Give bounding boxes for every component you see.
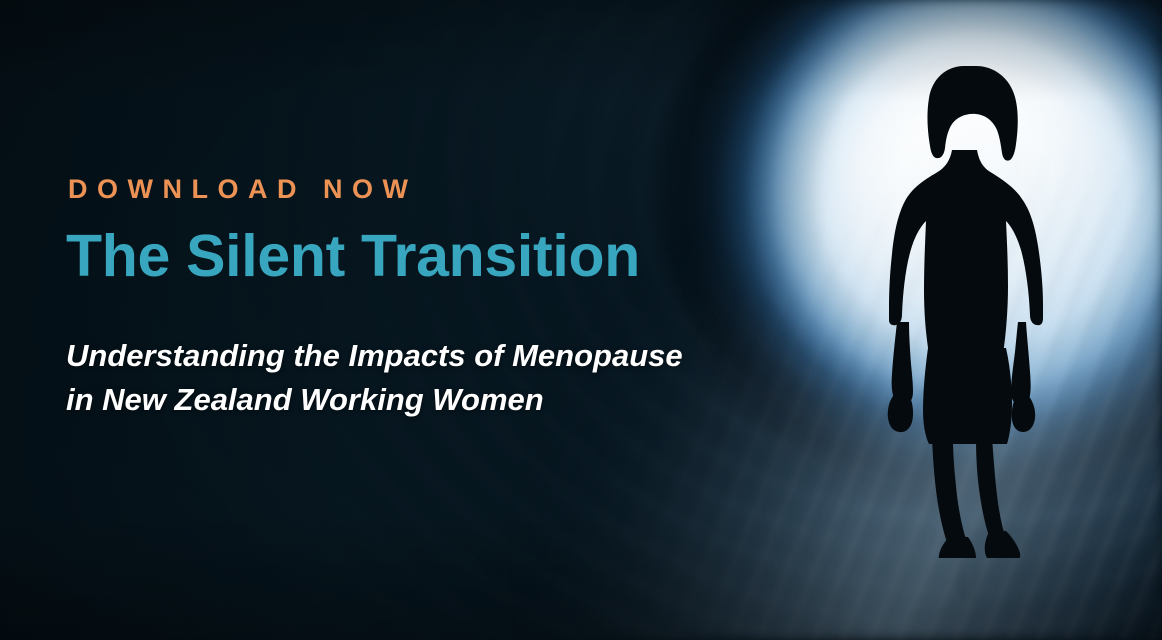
- woman-silhouette: [840, 58, 1090, 558]
- figure-reflection: [840, 548, 1090, 640]
- eyebrow-label: DOWNLOAD NOW: [68, 176, 866, 203]
- promo-banner: DOWNLOAD NOW The Silent Transition Under…: [0, 0, 1162, 640]
- copy-block: DOWNLOAD NOW The Silent Transition Under…: [66, 176, 866, 422]
- page-title: The Silent Transition: [66, 227, 866, 286]
- subtitle-line-1: Understanding the Impacts of Menopause: [66, 334, 866, 378]
- subtitle: Understanding the Impacts of Menopause i…: [66, 334, 866, 422]
- subtitle-line-2: in New Zealand Working Women: [66, 378, 866, 422]
